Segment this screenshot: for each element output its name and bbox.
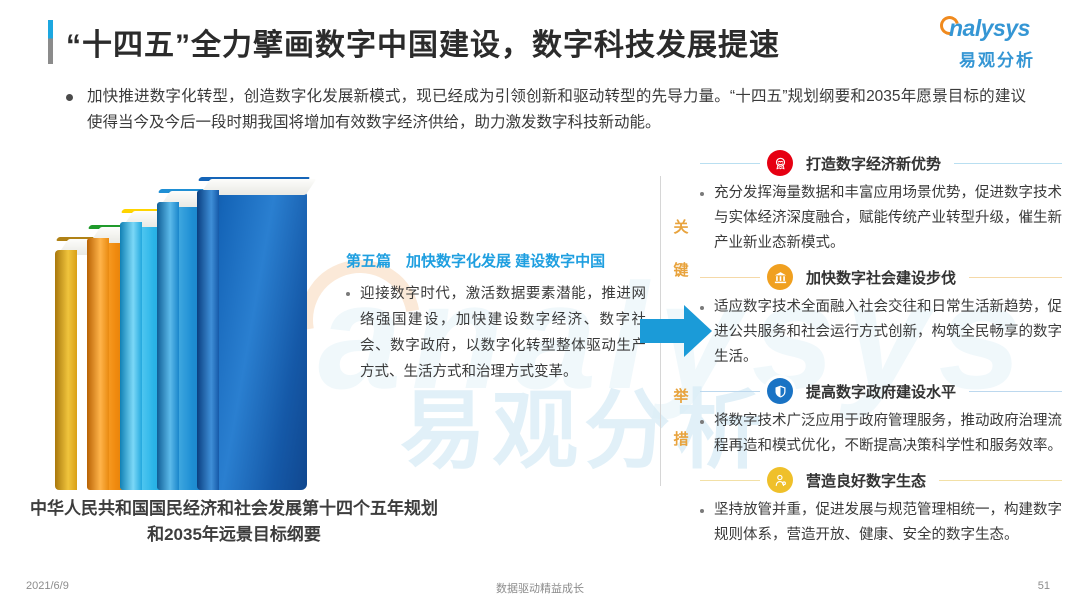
lead-text: 加快推进数字化转型，创造数字化发展新模式，现已经成为引领创新和驱动转型的先导力量… [87,84,1026,136]
measure-3-rule-right [969,391,1062,392]
bullet-dot-icon [700,509,704,513]
logo-wordmark-row: nalysys [938,14,1056,42]
person-icon [767,467,793,493]
measure-2-rule-right [969,277,1062,278]
books-caption: 中华人民共和国国民经济和社会发展第十四个五年规划和2035年远景目标纲要 [24,496,444,548]
book-4-spine [157,202,179,490]
measure-item-2: 加快数字社会建设步伐 适应数字技术全面融入社会交往和日常生活新趋势，促进公共服务… [700,262,1062,370]
measure-item-4: 营造良好数字生态 坚持放管并重，促进发展与规范管理相统一，构建数字规则体系，营造… [700,465,1062,548]
measure-1-text: 充分发挥海量数据和丰富应用场景优势，促进数字技术与实体经济深度融合，赋能传统产业… [714,181,1062,256]
key-label-char-3: 举 [670,389,692,404]
key-label-char-2: 键 [670,263,692,278]
measure-2-body: 适应数字技术全面融入社会交往和日常生活新趋势，促进公共服务和社会运行方式创新，构… [700,292,1062,370]
brand-logo: nalysys 易观分析 [938,14,1056,71]
footer-slogan: 数据驱动精益成长 [0,580,1080,596]
measure-2-title: 加快数字社会建设步伐 [800,267,962,288]
bullet-dot-icon [700,420,704,424]
measure-3-title: 提高数字政府建设水平 [800,381,962,402]
bullet-dot-icon [700,192,704,196]
chapter-body: 迎接数字时代，激活数据要素潜能，推进网络强国建设，加快建设数字经济、数字社会、数… [346,281,646,385]
measure-2-header: 加快数字社会建设步伐 [700,262,1062,292]
measure-4-text: 坚持放管并重，促进发展与规范管理相统一，构建数字规则体系，营造开放、健康、安全的… [714,498,1062,548]
measure-2-rule-left [700,277,760,278]
title-accent-bar [48,20,53,64]
slide-canvas: analysys 易观分析 “十四五”全力擘画数字中国建设，数字科技发展提速 n… [0,0,1080,608]
measure-3-header: 提高数字政府建设水平 [700,376,1062,406]
measure-item-1: 打造数字经济新优势 充分发挥海量数据和丰富应用场景优势，促进数字技术与实体经济深… [700,148,1062,256]
chapter-title: 第五篇 加快数字化发展 建设数字中国 [346,250,646,271]
measure-4-title: 营造良好数字生态 [800,470,932,491]
measure-1-header: 打造数字经济新优势 [700,148,1062,178]
measure-3-rule-left [700,391,760,392]
book-1-spine [55,250,77,490]
chapter-text: 迎接数字时代，激活数据要素潜能，推进网络强国建设，加快建设数字经济、数字社会、数… [360,281,646,385]
medal-icon [767,150,793,176]
book-2-spine [87,238,109,490]
measure-4-rule-right [939,480,1062,481]
measure-3-text: 将数字技术广泛应用于政府管理服务，推动政府治理流程再造和模式优化，不断提高决策科… [714,409,1062,459]
books-illustration [45,170,315,490]
bullet-dot-icon [346,292,350,296]
logo-chinese-name: 易观分析 [938,46,1056,71]
measure-1-rule-right [954,163,1062,164]
bullet-dot-icon [700,306,704,310]
bullet-dot-icon [66,94,73,101]
book-3-spine [120,222,142,490]
shield-icon [767,378,793,404]
key-label-char-4: 措 [670,432,692,447]
footer: 2021/6/9 数据驱动精益成长 51 [0,578,1080,598]
bank-building-icon [767,264,793,290]
key-label-char-1: 关 [670,220,692,235]
measure-4-header: 营造良好数字生态 [700,465,1062,495]
measure-1-rule-left [700,163,760,164]
measure-4-rule-left [700,480,760,481]
page-title: “十四五”全力擘画数字中国建设，数字科技发展提速 [66,20,780,64]
lead-bullet: 加快推进数字化转型，创造数字化发展新模式，现已经成为引领创新和驱动转型的先导力量… [66,84,1026,136]
measure-item-3: 提高数字政府建设水平 将数字技术广泛应用于政府管理服务，推动政府治理流程再造和模… [700,376,1062,459]
measures-list: 打造数字经济新优势 充分发挥海量数据和丰富应用场景优势，促进数字技术与实体经济深… [700,148,1062,554]
book-5 [197,190,307,490]
measure-1-body: 充分发挥海量数据和丰富应用场景优势，促进数字技术与实体经济深度融合，赋能传统产业… [700,178,1062,256]
logo-wordmark: nalysys [949,15,1030,42]
measure-3-body: 将数字技术广泛应用于政府管理服务，推动政府治理流程再造和模式优化，不断提高决策科… [700,406,1062,459]
measure-2-text: 适应数字技术全面融入社会交往和日常生活新趋势，促进公共服务和社会运行方式创新，构… [714,295,1062,370]
measure-4-body: 坚持放管并重，促进发展与规范管理相统一，构建数字规则体系，营造开放、健康、安全的… [700,495,1062,548]
measure-1-title: 打造数字经济新优势 [800,153,947,174]
footer-page-number: 51 [1038,580,1050,592]
book-5-spine [197,190,219,490]
chapter-panel: 第五篇 加快数字化发展 建设数字中国 迎接数字时代，激活数据要素潜能，推进网络强… [346,250,646,385]
